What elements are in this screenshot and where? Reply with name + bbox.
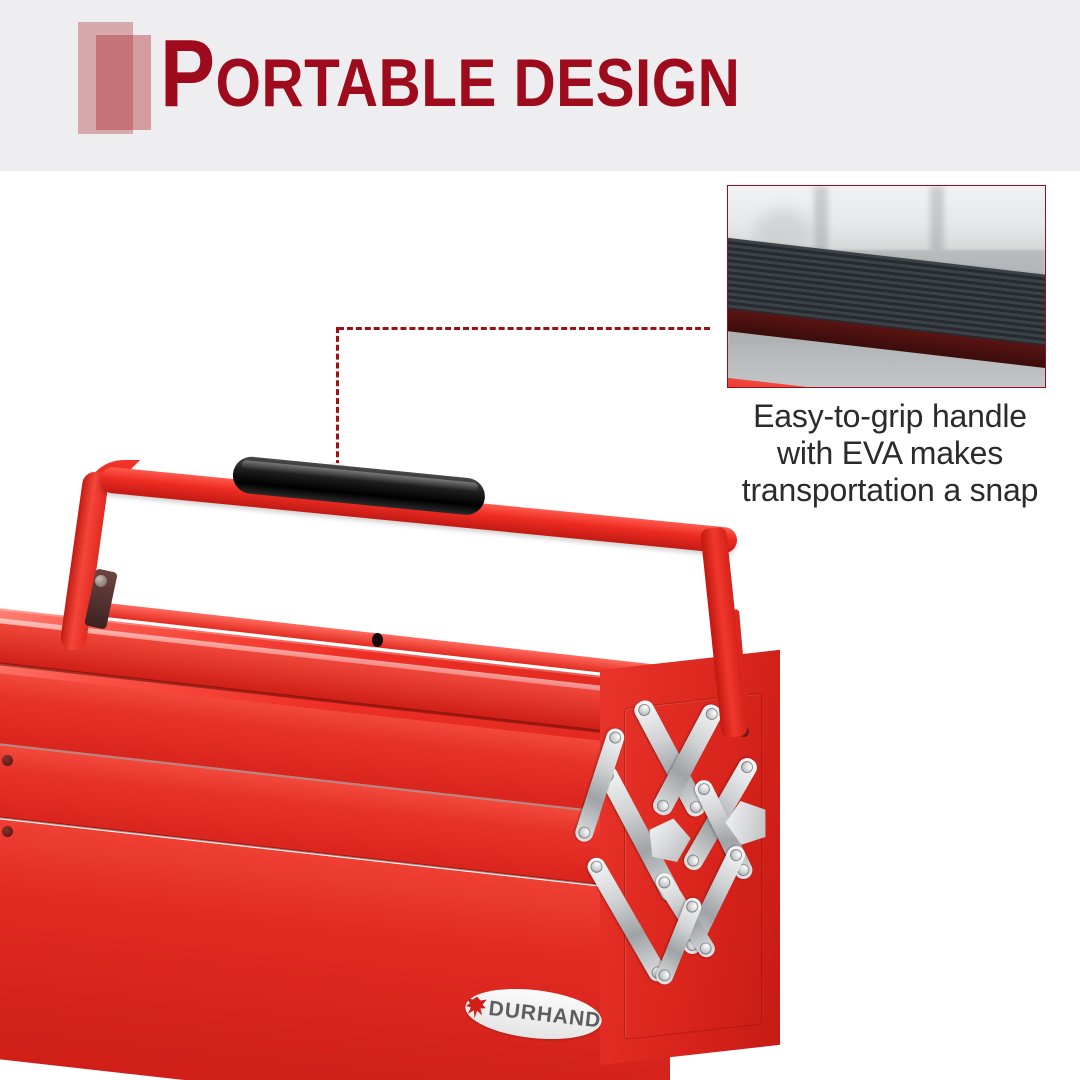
toolbox-pivot-rivet xyxy=(2,826,13,837)
page-title-rest: ORTABLE DESIGN xyxy=(215,45,740,121)
page-title: PORTABLE DESIGN xyxy=(160,26,740,122)
inset-background-post xyxy=(930,186,944,254)
detail-photo-inset xyxy=(727,185,1046,388)
brand-name: DURHAND xyxy=(487,997,602,1033)
eva-grip-highlight xyxy=(241,460,478,492)
inset-background-post xyxy=(814,186,828,254)
page-title-initial: P xyxy=(160,20,215,127)
header-band: PORTABLE DESIGN xyxy=(0,0,1080,171)
infographic-canvas: PORTABLE DESIGN Easy-to-grip handle with… xyxy=(0,0,1080,1080)
toolbox-lid-latch-hole xyxy=(372,633,383,647)
handle-hinge-rivet xyxy=(95,575,107,587)
header-decoration-rect-front xyxy=(96,35,151,130)
toolbox-pivot-rivet xyxy=(2,755,13,766)
callout-dashed-line-horizontal xyxy=(338,327,710,330)
product-photo-toolbox xyxy=(0,420,840,1080)
